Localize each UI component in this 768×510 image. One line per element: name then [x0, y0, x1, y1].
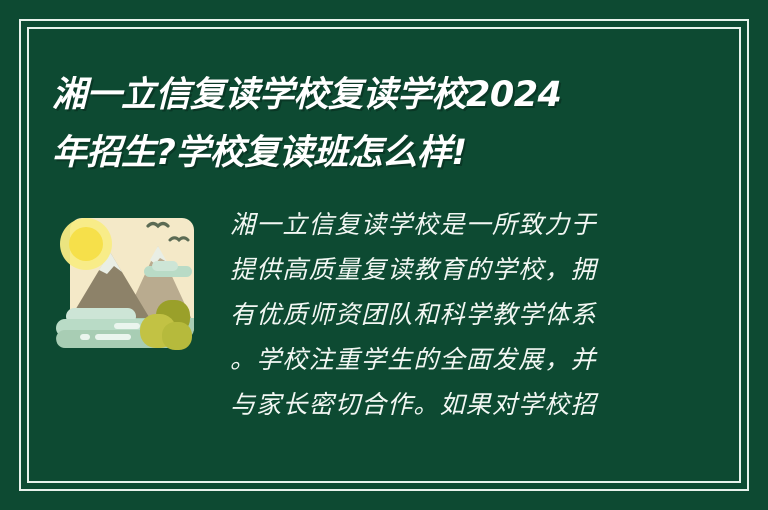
- bird-icon: [170, 238, 188, 240]
- mountain-sunrise-illustration: [52, 206, 198, 356]
- article-line: 提供高质量复读教育的学校，拥: [230, 247, 716, 292]
- illustration-cloud-streak-1: [114, 323, 140, 329]
- page-title-line-2: 年招生?学校复读班怎么样!: [52, 124, 712, 182]
- illustration-cloud-streak-3: [95, 334, 131, 340]
- article-line: 。学校注重学生的全面发展，并: [230, 337, 716, 382]
- article-line: 湘一立信复读学校是一所致力于: [230, 202, 716, 247]
- illustration-svg: [52, 206, 198, 356]
- article-content: 湘一立信复读学校是一所致力于 提供高质量复读教育的学校，拥 有优质师资团队和科学…: [52, 198, 716, 427]
- illustration-cloud-streak-2: [80, 334, 90, 340]
- page-title: 湘一立信复读学校复读学校2024 年招生?学校复读班怎么样!: [52, 66, 712, 182]
- bird-icon: [148, 224, 168, 227]
- article-line: 有优质师资团队和科学教学体系: [230, 292, 716, 337]
- illustration-cloud-mid-top: [152, 261, 178, 271]
- sun-icon: [69, 227, 103, 261]
- article-line: 与家长密切合作。如果对学校招: [230, 382, 716, 427]
- page-title-line-1: 湘一立信复读学校复读学校2024: [52, 66, 712, 124]
- illustration-bush-front: [162, 322, 192, 350]
- article-body: 湘一立信复读学校是一所致力于 提供高质量复读教育的学校，拥 有优质师资团队和科学…: [230, 198, 716, 427]
- poster-card: 湘一立信复读学校复读学校2024 年招生?学校复读班怎么样!: [0, 0, 768, 510]
